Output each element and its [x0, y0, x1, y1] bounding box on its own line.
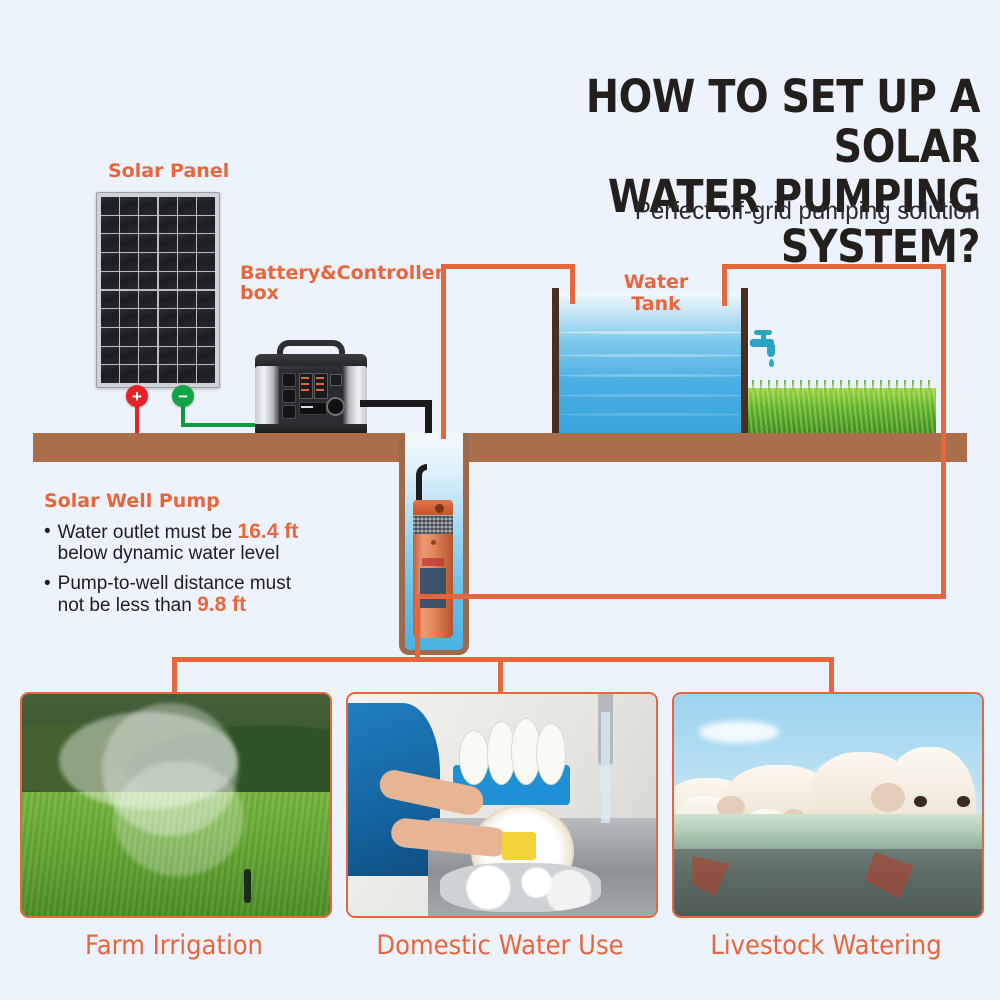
pipe-branch-farm	[172, 657, 177, 694]
application-card-domestic-water-use[interactable]	[346, 692, 658, 918]
power-station-graphic	[255, 340, 367, 440]
label-water-tank: Water Tank	[616, 271, 696, 315]
solar-well-pump-info: Solar Well Pump • Water outlet must be 1…	[44, 490, 374, 616]
pump-info-bullet: • Water outlet must be 16.4 ft below dyn…	[44, 521, 374, 564]
bullet-marker: •	[44, 521, 51, 564]
pump-spec-label	[420, 568, 446, 608]
bullet-text: Pump-to-well distance must not be less t…	[58, 573, 291, 616]
bullet-text-tail: below dynamic water level	[58, 543, 280, 564]
pipe-branch-domestic	[498, 657, 503, 694]
pipe-branch-livestock	[829, 657, 834, 694]
pump-info-bullet: • Pump-to-well distance must not be less…	[44, 573, 374, 616]
pump-cable-hook	[416, 464, 427, 504]
pipe-outlet-riser	[722, 264, 727, 306]
pipe-distribution-bus	[172, 657, 834, 662]
pipe-right-downcomer	[941, 264, 946, 598]
livestock-scene	[674, 694, 982, 916]
bullet-text-lead: Pump-to-well distance must	[58, 573, 291, 594]
irrigation-scene	[22, 694, 330, 916]
page-title: HOW TO SET UP A SOLAR WATER PUMPING SYST…	[470, 72, 980, 272]
water-trough	[674, 849, 982, 916]
pipe-top-run-to-right	[722, 264, 945, 269]
sprinkler-nozzle	[244, 869, 251, 903]
pump-cable-segment	[360, 400, 432, 407]
pump-screw	[431, 540, 436, 545]
pipe-drop-into-tank	[570, 264, 575, 304]
infographic-canvas: HOW TO SET UP A SOLAR WATER PUMPING SYST…	[0, 0, 1000, 1000]
sponge	[502, 832, 536, 861]
water-tank-wall-left	[552, 288, 559, 433]
pipe-riser-from-pump	[441, 264, 446, 439]
caption-farm-irrigation: Farm Irrigation	[35, 930, 312, 961]
running-water	[601, 712, 610, 823]
bullet-text: Water outlet must be 16.4 ft below dynam…	[58, 521, 299, 564]
faucet-icon	[748, 330, 784, 374]
solar-panel-graphic	[96, 192, 220, 388]
ground-surface-right	[465, 433, 967, 462]
grass-blades	[748, 380, 936, 396]
pump-brand-strip	[422, 558, 444, 566]
caption-livestock-watering: Livestock Watering	[687, 930, 964, 961]
pipe-top-run-to-tank	[441, 264, 575, 269]
bullet-highlight-value: 9.8 ft	[197, 593, 246, 616]
soap-suds	[440, 863, 600, 912]
page-subtitle: Perfect off-grid pumping solution	[452, 197, 980, 226]
pipe-bus-drop	[415, 594, 420, 657]
label-battery-controller: Battery&Controller box	[240, 263, 440, 303]
pump-eyelet	[435, 504, 444, 513]
trough-water	[674, 814, 982, 850]
positive-terminal-icon: +	[126, 385, 148, 407]
bullet-highlight-value: 16.4 ft	[238, 520, 299, 543]
water-spray	[114, 761, 243, 876]
pipe-return-run	[415, 594, 946, 599]
kitchen-scene	[348, 694, 656, 916]
negative-terminal-icon: −	[172, 385, 194, 407]
bullet-marker: •	[44, 573, 51, 616]
application-card-farm-irrigation[interactable]	[20, 692, 332, 918]
application-card-livestock-watering[interactable]	[672, 692, 984, 918]
bullet-text-lead: Water outlet must be	[58, 522, 238, 543]
water-tank-wall-right	[741, 288, 748, 433]
pump-info-heading: Solar Well Pump	[44, 490, 374, 512]
ground-surface-left	[33, 433, 403, 462]
power-station-front-panel	[279, 369, 343, 425]
caption-domestic-water-use: Domestic Water Use	[361, 930, 638, 961]
pump-cap	[413, 500, 453, 516]
solar-panel-cell-grid	[101, 197, 215, 383]
label-solar-panel: Solar Panel	[108, 160, 229, 182]
bullet-text-tail: not be less than	[58, 595, 197, 616]
